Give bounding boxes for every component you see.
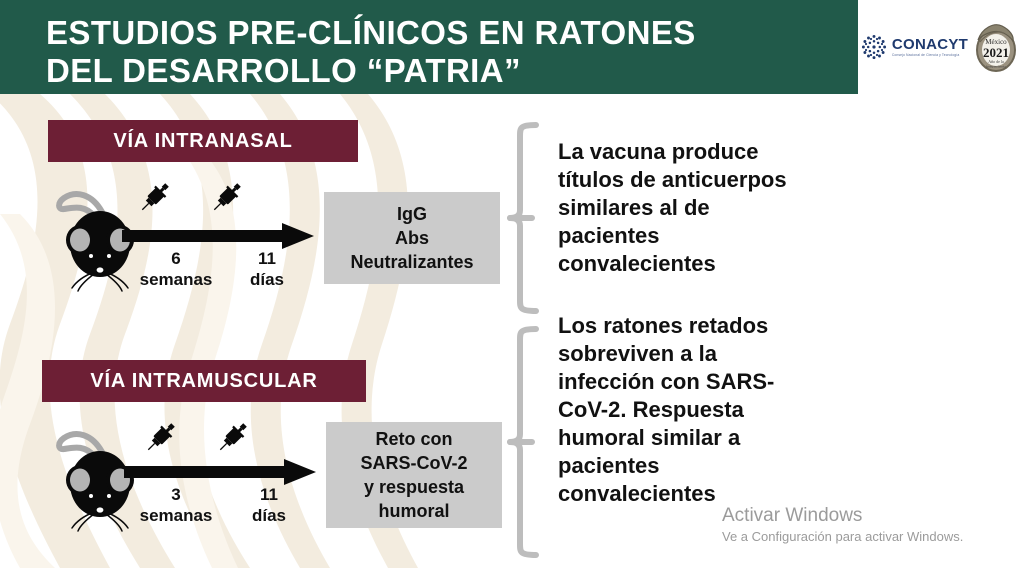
- page-title-line1: ESTUDIOS PRE-CLÍNICOS EN RATONES: [46, 14, 836, 52]
- timeline-label: 3 semanas: [132, 484, 220, 526]
- right-arrow-icon: [124, 458, 316, 486]
- conacyt-wordmark: CONACYT Consejo Nacional de Ciencia y Te…: [892, 37, 968, 57]
- svg-text:Independencia: Independencia: [986, 65, 1006, 69]
- outcome-box: Reto con SARS-CoV-2 y respuesta humoral: [326, 422, 502, 528]
- timeline-unit: días: [228, 505, 310, 526]
- windows-activation-watermark: Activar Windows Ve a Configuración para …: [722, 504, 1022, 546]
- banner-label: VÍA INTRANASAL: [113, 130, 292, 153]
- outcome-line: SARS-CoV-2: [360, 451, 467, 475]
- svg-text:Año de la: Año de la: [988, 59, 1004, 64]
- conclusion-text: La vacuna produce títulos de anticuerpos…: [558, 138, 808, 278]
- conacyt-radial-dots-icon: [860, 33, 888, 61]
- banner-label: VÍA INTRAMUSCULAR: [90, 370, 317, 393]
- conacyt-subtitle: Consejo Nacional de Ciencia y Tecnología: [892, 54, 968, 57]
- outcome-box: IgG Abs Neutralizantes: [324, 192, 500, 284]
- outcome-line: Reto con: [360, 427, 467, 451]
- mexico-2021-seal-icon: México 2021 Año de la Independencia: [972, 18, 1020, 76]
- outcome-line: y respuesta: [360, 475, 467, 499]
- timeline-number: 11: [226, 248, 308, 269]
- timeline-label: 6 semanas: [132, 248, 220, 290]
- timeline-label: 11 días: [226, 248, 308, 290]
- svg-text:2021: 2021: [983, 45, 1009, 60]
- conclusion-text: Los ratones retados sobreviven a la infe…: [558, 312, 810, 508]
- banner-via-intranasal: VÍA INTRANASAL: [48, 120, 358, 162]
- syringe-icon: [216, 418, 250, 456]
- header-band: ESTUDIOS PRE-CLÍNICOS EN RATONES DEL DES…: [0, 0, 858, 94]
- page-title: ESTUDIOS PRE-CLÍNICOS EN RATONES DEL DES…: [46, 14, 836, 90]
- curly-brace-icon: [506, 122, 546, 314]
- header-logos: CONACYT Consejo Nacional de Ciencia y Te…: [858, 0, 1022, 94]
- timeline-number: 11: [228, 484, 310, 505]
- syringe-icon: [138, 178, 172, 216]
- conacyt-name: CONACYT: [892, 37, 968, 52]
- conacyt-logo: CONACYT Consejo Nacional de Ciencia y Te…: [860, 33, 968, 61]
- page-title-line2: DEL DESARROLLO “PATRIA”: [46, 52, 836, 90]
- outcome-line: humoral: [360, 499, 467, 523]
- outcome-line: Abs: [350, 226, 473, 250]
- timeline-number: 6: [132, 248, 220, 269]
- timeline-unit: semanas: [132, 269, 220, 290]
- timeline-number: 3: [132, 484, 220, 505]
- slide-canvas: ESTUDIOS PRE-CLÍNICOS EN RATONES DEL DES…: [0, 0, 1022, 568]
- timeline-unit: semanas: [132, 505, 220, 526]
- right-arrow-icon: [122, 222, 314, 250]
- timeline-unit: días: [226, 269, 308, 290]
- outcome-line: IgG: [350, 202, 473, 226]
- banner-via-intramuscular: VÍA INTRAMUSCULAR: [42, 360, 366, 402]
- timeline-label: 11 días: [228, 484, 310, 526]
- syringe-icon: [144, 418, 178, 456]
- curly-brace-icon: [506, 326, 546, 558]
- syringe-icon: [210, 178, 244, 216]
- outcome-line: Neutralizantes: [350, 250, 473, 274]
- watermark-subtitle: Ve a Configuración para activar Windows.: [722, 528, 1022, 546]
